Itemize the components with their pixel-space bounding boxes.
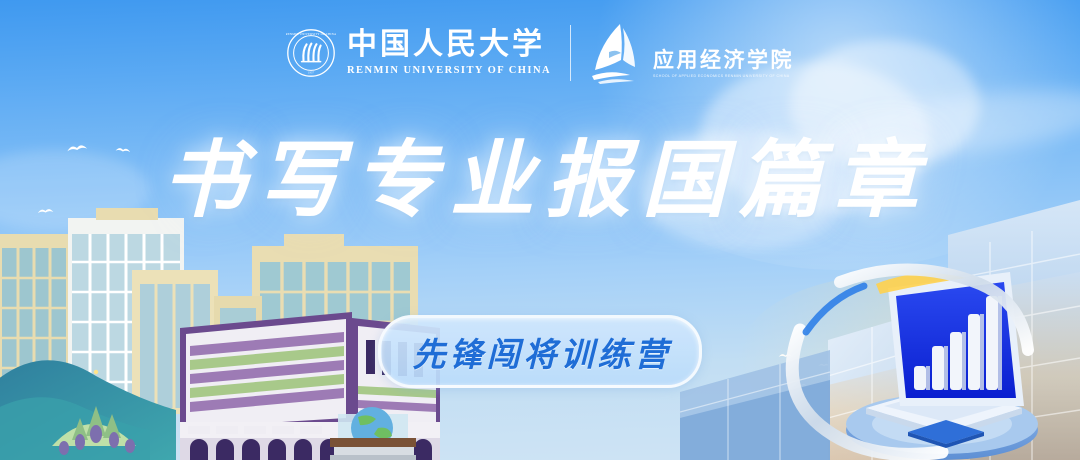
school-logo[interactable]: 应用经济学院 SCHOOL OF APPLIED ECONOMICS RENMI… <box>590 22 794 84</box>
school-name-en: SCHOOL OF APPLIED ECONOMICS RENMIN UNIVE… <box>653 74 794 79</box>
university-name-block: 中国人民大学 RENMIN UNIVERSITY OF CHINA <box>347 29 551 77</box>
ruc-seal-icon: RENMIN UNIVERSITY OF CHINA 1937 <box>286 28 336 78</box>
sail-logo-icon <box>590 22 644 84</box>
logo-bar: RENMIN UNIVERSITY OF CHINA 1937 中国人民大学 R… <box>0 16 1080 90</box>
svg-text:1937: 1937 <box>308 71 315 74</box>
headline-text: 书写专业报国篇章 <box>0 140 1080 224</box>
svg-text:RENMIN UNIVERSITY OF CHINA: RENMIN UNIVERSITY OF CHINA <box>286 32 336 36</box>
school-name-cn: 应用经济学院 <box>653 49 794 72</box>
subtitle-text: 先锋闯将训练营 <box>409 328 672 376</box>
university-name-cn: 中国人民大学 <box>347 29 551 61</box>
event-banner: RENMIN UNIVERSITY OF CHINA 1937 中国人民大学 R… <box>0 0 1080 460</box>
vertical-divider <box>570 25 571 81</box>
school-name-block: 应用经济学院 SCHOOL OF APPLIED ECONOMICS RENMI… <box>653 49 794 84</box>
university-name-en: RENMIN UNIVERSITY OF CHINA <box>347 64 551 77</box>
university-logo[interactable]: RENMIN UNIVERSITY OF CHINA 1937 中国人民大学 R… <box>286 28 551 78</box>
subtitle-pill-wrap: 先锋闯将训练营 <box>0 315 1080 388</box>
subtitle-pill[interactable]: 先锋闯将训练营 <box>378 315 702 388</box>
globe-on-books <box>330 407 416 460</box>
